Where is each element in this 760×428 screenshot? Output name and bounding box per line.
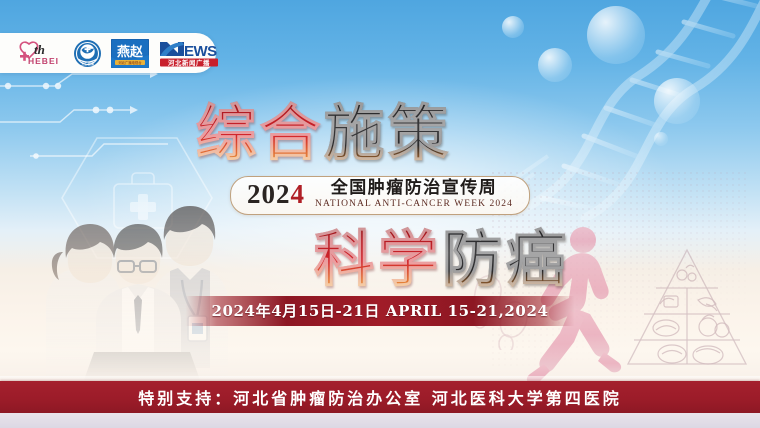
svg-text:EWS: EWS: [184, 43, 217, 60]
title-line2-red: 科学: [314, 225, 442, 295]
bottom-strip: [0, 413, 760, 428]
svg-text:燕赵: 燕赵: [117, 44, 144, 60]
title-line1-dark: 施策: [324, 99, 452, 169]
main-title-second: 科学防癌: [0, 222, 760, 290]
date-text: 2024年4月15日-21日 APRIL 15-21,2024: [211, 300, 548, 321]
badge-text-group: 全国肿瘤防治宣传周 NATIONAL ANTI-CANCER WEEK 2024: [315, 180, 513, 210]
bubble-decoration: [502, 16, 524, 38]
svg-text:HEBEI: HEBEI: [28, 56, 59, 66]
badge-year: 2024: [247, 181, 305, 208]
svg-text:河北广播电视台: 河北广播电视台: [118, 60, 142, 65]
hebei-anniversary-logo: th HEBEI: [14, 38, 64, 68]
hebei-news-radio-logo: EWS 河北新闻广播: [158, 38, 220, 68]
title-line1-red: 综合: [196, 99, 324, 169]
badge-english-title: NATIONAL ANTI-CANCER WEEK 2024: [315, 200, 513, 210]
badge-year-dark: 202: [247, 179, 291, 209]
bubble-decoration: [538, 48, 572, 82]
campaign-badge: 2024 全国肿瘤防治宣传周 NATIONAL ANTI-CANCER WEEK…: [230, 176, 530, 215]
anti-cancer-week-poster: th HEBEI 卫生健康: [0, 0, 760, 428]
badge-chinese-title: 全国肿瘤防治宣传周: [331, 180, 498, 197]
health-commission-emblem-logo: 卫生健康: [73, 38, 102, 68]
sponsor-logo-bar: th HEBEI 卫生健康: [0, 33, 216, 73]
main-title: 综合施策: [0, 104, 760, 164]
title-line2-dark: 防癌: [442, 225, 570, 295]
support-text: 特别支持：河北省肿瘤防治办公室 河北医科大学第四医院: [138, 385, 622, 409]
support-bar: 特别支持：河北省肿瘤防治办公室 河北医科大学第四医院: [0, 381, 760, 413]
title-line-2: 科学防癌: [62, 230, 760, 290]
svg-text:河北新闻广播: 河北新闻广播: [168, 58, 210, 67]
svg-text:th: th: [34, 42, 45, 57]
badge-year-red: 4: [291, 179, 306, 209]
title-line-1: 综合施策: [0, 104, 704, 164]
yanzhao-logo: 燕赵 河北广播电视台: [111, 38, 149, 68]
bubble-decoration: [587, 6, 645, 64]
svg-text:卫生健康: 卫生健康: [81, 61, 95, 66]
date-banner: 2024年4月15日-21日 APRIL 15-21,2024: [185, 296, 574, 326]
